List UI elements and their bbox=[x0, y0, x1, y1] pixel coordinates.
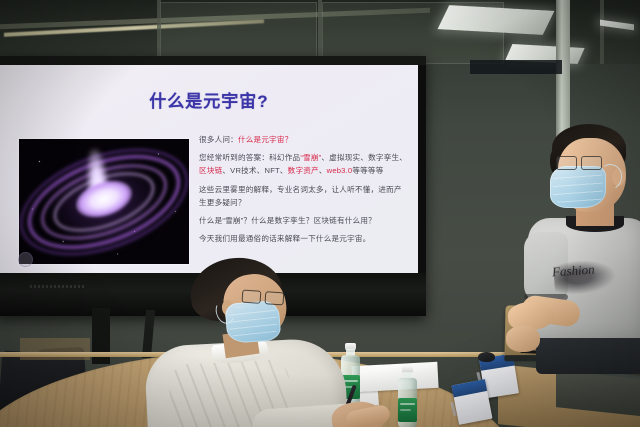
slide-paragraph: 什么是“雪崩”？什么是数字孪生？区块链有什么用？ bbox=[199, 214, 409, 227]
presenter-pants bbox=[536, 334, 640, 374]
watermark-logo-icon bbox=[18, 252, 33, 267]
slide-highlight-text: “雪崩” bbox=[300, 153, 321, 162]
bottle-body bbox=[398, 378, 417, 427]
glass-mullion bbox=[318, 0, 322, 64]
slide-body-text: 很多人问：什么是元宇宙？您经常听到的答案：科幻作品“雪崩”、虚拟现实、数字孪生、… bbox=[199, 133, 409, 250]
slide-text-run: 、 bbox=[319, 166, 327, 175]
slide-paragraph: 很多人问：什么是元宇宙？ bbox=[199, 133, 409, 146]
document-sheet bbox=[351, 362, 438, 392]
name-placard bbox=[451, 379, 492, 425]
meeting-room-photo: 什么是元宇宙? 很多人问：什么是元宇宙？您经常听到的答案：科幻作品“雪崩”、虚拟… bbox=[0, 0, 640, 427]
label-line bbox=[400, 409, 411, 411]
slide-highlight-text: 区块链 bbox=[199, 166, 222, 175]
slide-title: 什么是元宇宙? bbox=[0, 87, 418, 112]
display-bezel bbox=[0, 56, 426, 65]
glass-mullion bbox=[157, 0, 161, 64]
bottle-label bbox=[398, 398, 417, 422]
display-vent bbox=[30, 285, 86, 288]
slide-text-run: 今天我们用最通俗的话来解释一下什么是元宇宙。 bbox=[199, 234, 370, 243]
slide-text-run: 等等等等 bbox=[352, 166, 383, 175]
slide-highlight-text: web3.0 bbox=[327, 166, 353, 175]
mask-pleats bbox=[553, 170, 603, 204]
presentation-slide: 什么是元宇宙? 很多人问：什么是元宇宙？您经常听到的答案：科幻作品“雪崩”、虚拟… bbox=[0, 65, 418, 273]
standing-presenter: Fashion bbox=[500, 120, 640, 360]
glasses-icon bbox=[556, 156, 602, 168]
glass-mullion bbox=[600, 0, 604, 64]
slide-paragraph: 今天我们用最通俗的话来解释一下什么是元宇宙。 bbox=[199, 232, 409, 245]
seated-attendee bbox=[150, 258, 340, 427]
slide-text-run: 、VR技术、NFT、 bbox=[222, 166, 287, 175]
slide-paragraph: 您经常听到的答案：科幻作品“雪崩”、虚拟现实、数字孪生、区块链、VR技术、NFT… bbox=[199, 151, 409, 177]
mask-pleats bbox=[228, 304, 278, 339]
surgical-mask-icon bbox=[225, 300, 282, 344]
slide-text-run: 这些云里雾里的解释，专业名词太多，让人听不懂，进而产生更多疑问？ bbox=[199, 185, 402, 207]
galaxy-image bbox=[19, 139, 189, 264]
presenter-hand bbox=[506, 326, 540, 352]
slide-text-run: 、虚拟现实、数字孪生、 bbox=[321, 153, 407, 162]
water-bottle[interactable] bbox=[398, 366, 417, 427]
slide-text-run: 什么是“雪崩”？什么是数字孪生？区块链有什么用？ bbox=[199, 216, 376, 225]
computer-mouse[interactable] bbox=[478, 352, 495, 362]
label-line bbox=[400, 403, 415, 405]
slide-highlight-text: 什么是元宇宙？ bbox=[238, 135, 293, 144]
slide-paragraph: 这些云里雾里的解释，专业名词太多，让人听不懂，进而产生更多疑问？ bbox=[199, 183, 409, 209]
glasses-icon bbox=[242, 290, 285, 304]
slide-highlight-text: 数字资产 bbox=[288, 166, 319, 175]
slide-text-run: 您经常听到的答案：科幻作品 bbox=[199, 153, 300, 162]
label-line bbox=[343, 380, 358, 382]
slide-text-run: 很多人问： bbox=[199, 135, 238, 144]
wall-dark-panel bbox=[470, 60, 562, 74]
glass-partition-pane bbox=[160, 2, 317, 64]
